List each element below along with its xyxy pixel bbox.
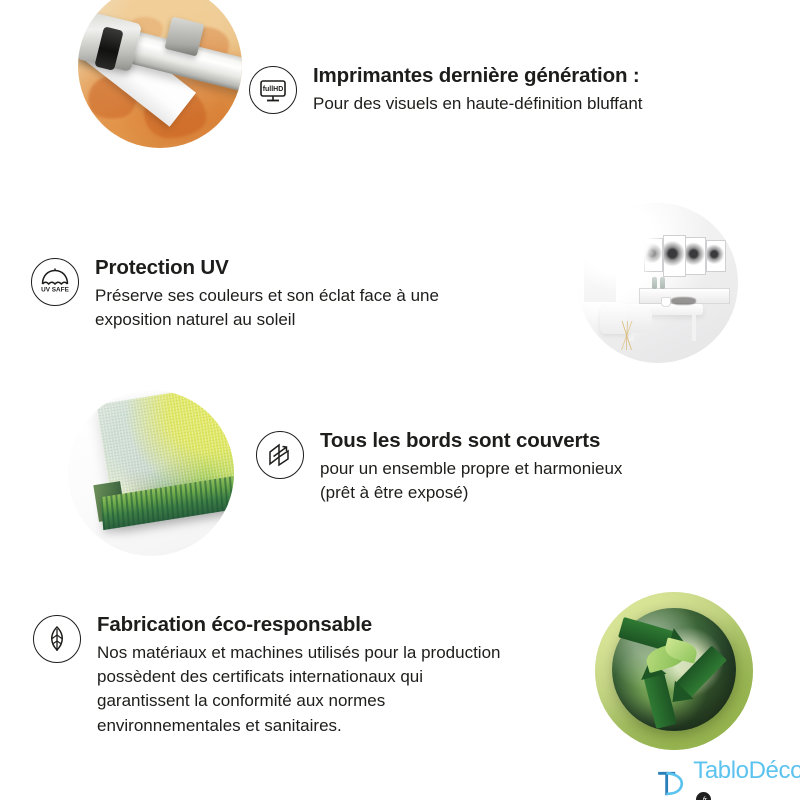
feature-body: pour un ensemble propre et harmonieux (p… bbox=[320, 457, 622, 505]
feature-body: Pour des visuels en haute-définition blu… bbox=[313, 92, 643, 116]
feature-title: Imprimantes dernière génération : bbox=[313, 64, 643, 88]
canvas-corner-photo bbox=[68, 390, 234, 556]
eco-globe-recycling-photo bbox=[595, 592, 753, 750]
feature-print-quality: fullHD Imprimantes dernière génération :… bbox=[249, 64, 643, 116]
domain-badge: .fr bbox=[696, 792, 711, 800]
feature-covered-edges: Tous les bords sont couverts pour un ens… bbox=[256, 429, 622, 505]
infographic-page: fullHD Imprimantes dernière génération :… bbox=[0, 0, 800, 800]
svg-text:UV SAFE: UV SAFE bbox=[41, 287, 69, 294]
feature-eco-manufacturing: Fabrication éco-responsable Nos matériau… bbox=[33, 613, 500, 738]
feature-body: Préserve ses couleurs et son éclat face … bbox=[95, 284, 439, 332]
sunlit-interior-photo bbox=[578, 203, 738, 363]
logo-wordmark-text: TabloDéco bbox=[693, 757, 800, 784]
logo-wordmark: TabloDéco™.fr bbox=[693, 757, 800, 800]
td-monogram-icon bbox=[656, 768, 686, 800]
fullhd-monitor-icon: fullHD bbox=[249, 66, 297, 114]
feature-uv-protection: UV SAFE Protection UV Préserve ses coule… bbox=[31, 256, 439, 332]
feature-body: Nos matériaux et machines utilisés pour … bbox=[97, 641, 500, 738]
leaf-eco-icon bbox=[33, 615, 81, 663]
brand-logo[interactable]: TabloDéco™.fr bbox=[656, 757, 800, 800]
printer-roller-map-photo bbox=[78, 0, 242, 148]
feature-title: Tous les bords sont couverts bbox=[320, 429, 622, 453]
svg-text:fullHD: fullHD bbox=[263, 86, 284, 93]
uv-safe-umbrella-icon: UV SAFE bbox=[31, 258, 79, 306]
canvas-wrap-edges-icon bbox=[256, 431, 304, 479]
feature-title: Protection UV bbox=[95, 256, 439, 280]
feature-title: Fabrication éco-responsable bbox=[97, 613, 500, 637]
